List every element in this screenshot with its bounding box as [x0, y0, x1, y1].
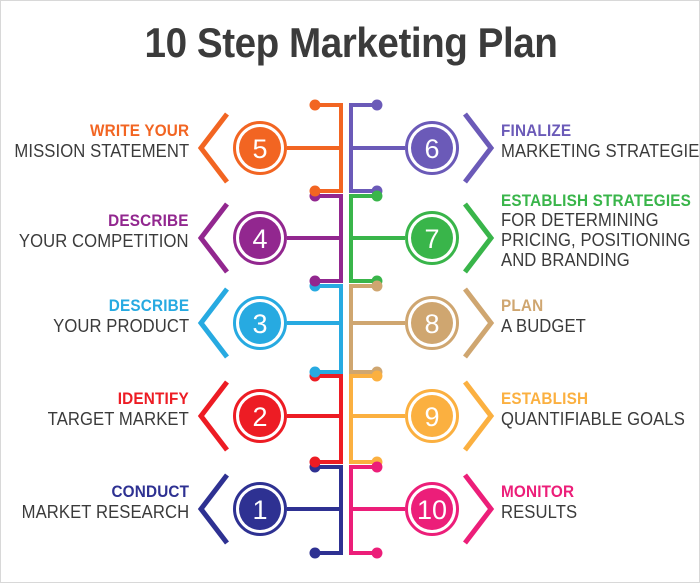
- step-bracket-2: [315, 376, 341, 462]
- step-head-1: CONDUCT: [21, 483, 189, 501]
- step-chevron-10: [465, 475, 491, 543]
- step-number-8: 8: [424, 309, 439, 339]
- step-group-1[interactable]: 1: [201, 462, 341, 559]
- bracket-node-dot-1-bottom: [310, 548, 321, 559]
- step-bracket-8: [351, 286, 377, 372]
- step-number-5: 5: [252, 134, 267, 164]
- step-number-6: 6: [424, 134, 439, 164]
- step-chevron-6: [465, 114, 491, 182]
- step-text-8: PLANA BUDGET: [501, 297, 595, 335]
- step-number-9: 9: [424, 402, 439, 432]
- step-number-3: 3: [252, 309, 267, 339]
- step-text-3: DESCRIBEYOUR PRODUCT: [38, 297, 189, 335]
- step-head-6: FINALIZE: [501, 122, 700, 140]
- step-chevron-9: [465, 382, 491, 450]
- step-text-10: MONITORRESULTS: [501, 483, 586, 521]
- step-text-5: WRITE YOURMISSION STATEMENT: [0, 122, 189, 160]
- step-group-4[interactable]: 4: [201, 191, 341, 287]
- bracket-node-dot-4-bottom: [310, 276, 321, 287]
- step-chevron-8: [465, 289, 491, 357]
- step-text-9: ESTABLISHQUANTIFIABLE GOALS: [501, 390, 700, 428]
- step-sub-7-2: PRICING, POSITIONING: [501, 230, 691, 250]
- step-group-3[interactable]: 3: [201, 281, 341, 378]
- step-head-4: DESCRIBE: [19, 212, 189, 230]
- step-sub-8-1: A BUDGET: [501, 316, 586, 336]
- step-sub-2-1: TARGET MARKET: [48, 409, 189, 429]
- step-head-5: WRITE YOUR: [14, 122, 189, 140]
- step-text-4: DESCRIBEYOUR COMPETITION: [0, 212, 189, 250]
- step-sub-9-1: QUANTIFIABLE GOALS: [501, 409, 685, 429]
- bracket-node-dot-5-bottom: [310, 186, 321, 197]
- step-group-9[interactable]: 9: [351, 371, 491, 468]
- step-head-3: DESCRIBE: [53, 297, 189, 315]
- step-chevron-7: [465, 204, 491, 272]
- step-text-1: CONDUCTMARKET RESEARCH: [3, 483, 189, 521]
- step-chevron-4: [201, 204, 227, 272]
- bracket-node-dot-6-top: [372, 100, 383, 111]
- bracket-node-dot-7-top: [372, 191, 383, 202]
- step-chevron-1: [201, 475, 227, 543]
- step-sub-1-1: MARKET RESEARCH: [21, 502, 189, 522]
- step-sub-7-1: FOR DETERMINING: [501, 210, 691, 230]
- step-head-9: ESTABLISH: [501, 390, 685, 408]
- bracket-node-dot-10-top: [372, 462, 383, 473]
- step-bracket-9: [351, 376, 377, 462]
- step-sub-5-1: MISSION STATEMENT: [14, 141, 189, 161]
- step-group-5[interactable]: 5: [201, 100, 341, 197]
- step-number-4: 4: [252, 224, 267, 254]
- step-number-2: 2: [252, 402, 267, 432]
- bracket-node-dot-5-top: [310, 100, 321, 111]
- bracket-node-dot-3-bottom: [310, 367, 321, 378]
- step-group-7[interactable]: 7: [351, 191, 491, 287]
- step-text-6: FINALIZEMARKETING STRATEGIES: [501, 122, 700, 160]
- step-group-6[interactable]: 6: [351, 100, 491, 197]
- step-group-2[interactable]: 2: [201, 371, 341, 468]
- step-head-8: PLAN: [501, 297, 586, 315]
- step-bracket-3: [315, 286, 341, 372]
- step-chevron-3: [201, 289, 227, 357]
- step-chevron-5: [201, 114, 227, 182]
- step-sub-7-3: AND BRANDING: [501, 250, 691, 270]
- step-sub-6-1: MARKETING STRATEGIES: [501, 141, 700, 161]
- step-head-10: MONITOR: [501, 483, 577, 501]
- step-number-7: 7: [424, 224, 439, 254]
- bracket-node-dot-9-top: [372, 371, 383, 382]
- step-text-7: ESTABLISH STRATEGIESFOR DETERMININGPRICI…: [501, 192, 700, 270]
- step-number-10: 10: [417, 495, 447, 525]
- infographic-canvas: 10 Step Marketing Plan 12345678910 CONDU…: [0, 0, 700, 583]
- bracket-node-dot-10-bottom: [372, 548, 383, 559]
- step-head-7: ESTABLISH STRATEGIES: [501, 192, 691, 210]
- step-sub-4-1: YOUR COMPETITION: [19, 231, 189, 251]
- step-sub-10-1: RESULTS: [501, 502, 577, 522]
- step-head-2: IDENTIFY: [48, 390, 189, 408]
- step-text-2: IDENTIFYTARGET MARKET: [32, 390, 189, 428]
- step-sub-3-1: YOUR PRODUCT: [53, 316, 189, 336]
- step-chevron-2: [201, 382, 227, 450]
- bracket-node-dot-2-bottom: [310, 457, 321, 468]
- step-group-10[interactable]: 10: [351, 462, 491, 559]
- step-number-1: 1: [252, 495, 267, 525]
- step-group-8[interactable]: 8: [351, 281, 491, 378]
- bracket-node-dot-8-top: [372, 281, 383, 292]
